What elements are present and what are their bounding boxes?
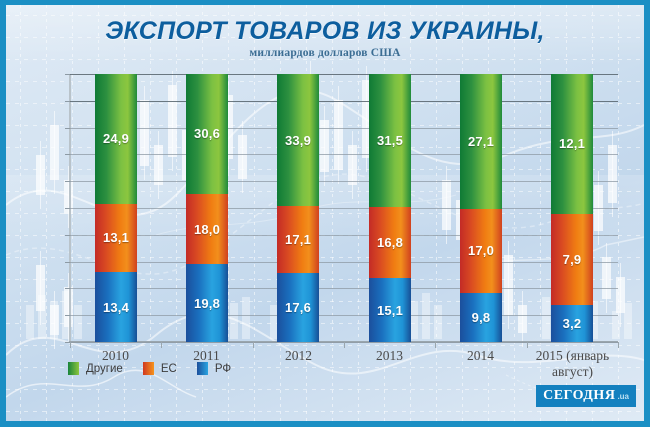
bar-value-eu: 18,0 — [194, 222, 220, 237]
bar-segment-other[interactable]: 33,9 — [277, 74, 319, 206]
stacked-bar[interactable]: 30,618,019,8 — [186, 74, 228, 342]
bar-value-rf: 15,1 — [377, 303, 403, 318]
bar-segment-rf[interactable]: 13,4 — [95, 272, 137, 342]
chart-plot-area: 100%90%80%70%60%50%40%30%20%10%0% 24,913… — [70, 74, 618, 342]
legend-swatch-eu-icon — [143, 362, 154, 375]
bar-value-rf: 13,4 — [103, 300, 129, 315]
x-axis-tick-label-line1: 2014 — [467, 348, 494, 363]
stacked-bar[interactable]: 31,516,815,1 — [369, 74, 411, 342]
bar-value-rf: 9,8 — [472, 310, 491, 325]
legend-label: ЕС — [161, 363, 177, 375]
bar-segment-eu[interactable]: 7,9 — [551, 214, 593, 305]
stacked-bar[interactable]: 33,917,117,6 — [277, 74, 319, 342]
legend-label: РФ — [215, 363, 231, 375]
bar-segment-rf[interactable]: 19,8 — [186, 264, 228, 342]
x-axis-tick-label: 2014 — [435, 348, 526, 364]
x-axis-tick-label-line1: 2013 — [376, 348, 403, 363]
x-axis-tick-label-line1: 2015 (январь — [536, 348, 609, 363]
logo-name: СЕГОДНЯ — [543, 388, 615, 404]
legend-swatch-rf-icon — [197, 362, 208, 375]
bar-segment-rf[interactable]: 9,8 — [460, 293, 502, 342]
bar-value-other: 30,6 — [194, 126, 220, 141]
bar-segment-rf[interactable]: 15,1 — [369, 278, 411, 342]
bar-value-rf: 3,2 — [563, 316, 582, 331]
bar-value-rf: 17,6 — [285, 300, 311, 315]
legend-item-eu[interactable]: ЕС — [143, 362, 177, 375]
x-axis-tick-label: 2012 — [253, 348, 344, 364]
legend-item-other[interactable]: Другие — [68, 362, 123, 375]
site-logo[interactable]: СЕГОДНЯ .ua — [536, 385, 636, 407]
chart-legend: ДругиеЕСРФ — [68, 362, 231, 375]
bar-segment-eu[interactable]: 16,8 — [369, 207, 411, 278]
bar-value-other: 27,1 — [468, 134, 494, 149]
logo-tld: .ua — [617, 392, 629, 401]
stacked-bar[interactable]: 12,17,93,2 — [551, 74, 593, 342]
bar-value-eu: 16,8 — [377, 235, 403, 250]
bar-segment-other[interactable]: 31,5 — [369, 74, 411, 207]
bar-segment-eu[interactable]: 13,1 — [95, 204, 137, 272]
infographic-canvas: ЭКСПОРТ ТОВАРОВ ИЗ УКРАИНЫ, миллиардов д… — [6, 5, 644, 421]
bar-value-other: 12,1 — [559, 136, 585, 151]
bar-value-eu: 7,9 — [563, 252, 582, 267]
bar-segment-other[interactable]: 27,1 — [460, 74, 502, 209]
bar-segment-other[interactable]: 12,1 — [551, 74, 593, 214]
bar-value-other: 24,9 — [103, 131, 129, 146]
x-axis-tick-label: 2013 — [344, 348, 435, 364]
bar-value-eu: 17,0 — [468, 243, 494, 258]
stacked-bar[interactable]: 27,117,09,8 — [460, 74, 502, 342]
bar-value-rf: 19,8 — [194, 296, 220, 311]
x-axis-tick-label-line1: 2012 — [285, 348, 312, 363]
bar-segment-eu[interactable]: 17,1 — [277, 206, 319, 273]
bar-value-other: 33,9 — [285, 133, 311, 148]
legend-item-rf[interactable]: РФ — [197, 362, 231, 375]
bar-segment-rf[interactable]: 17,6 — [277, 273, 319, 342]
page-subtitle: миллиардов долларов США — [6, 47, 644, 59]
legend-label: Другие — [86, 363, 123, 375]
bar-value-eu: 17,1 — [285, 232, 311, 247]
stacked-bar[interactable]: 24,913,113,4 — [95, 74, 137, 342]
x-axis-tick-label-line2: август) — [527, 364, 618, 380]
infographic-frame: ЭКСПОРТ ТОВАРОВ ИЗ УКРАИНЫ, миллиардов д… — [0, 0, 650, 427]
bar-value-eu: 13,1 — [103, 230, 129, 245]
bar-segment-eu[interactable]: 17,0 — [460, 209, 502, 294]
bar-segment-eu[interactable]: 18,0 — [186, 194, 228, 265]
bar-segment-other[interactable]: 30,6 — [186, 74, 228, 194]
bar-value-other: 31,5 — [377, 133, 403, 148]
x-axis-tick-label-line1: 2010 — [102, 348, 129, 363]
bar-segment-rf[interactable]: 3,2 — [551, 305, 593, 342]
page-title: ЭКСПОРТ ТОВАРОВ ИЗ УКРАИНЫ, — [6, 17, 644, 46]
bar-segment-other[interactable]: 24,9 — [95, 74, 137, 204]
x-axis-tick-label: 2015 (январьавгуст) — [527, 348, 618, 379]
x-axis-tick-label-line1: 2011 — [193, 348, 220, 363]
legend-swatch-other-icon — [68, 362, 79, 375]
